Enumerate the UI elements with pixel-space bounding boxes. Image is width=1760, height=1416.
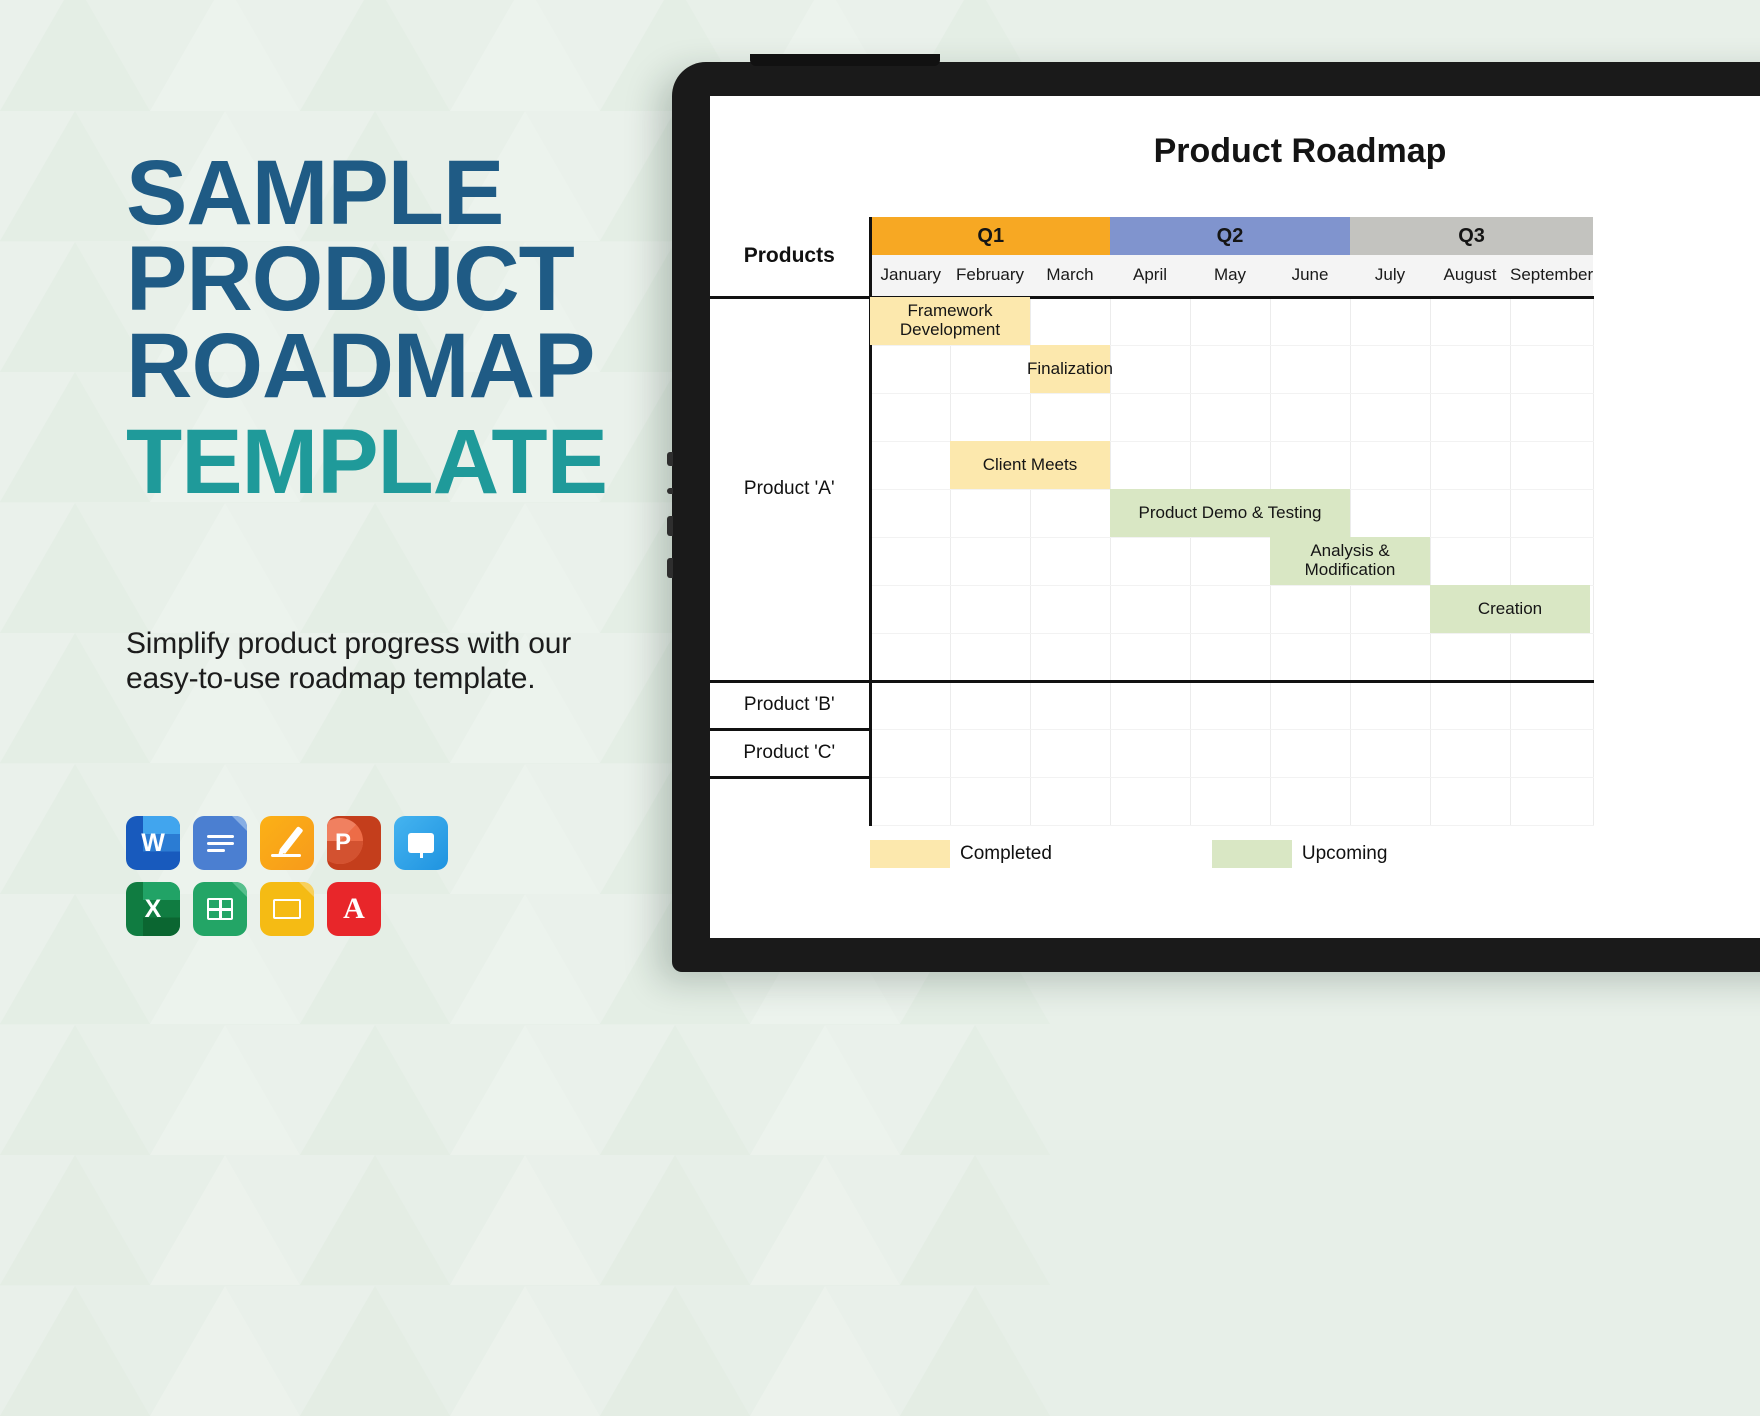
tablet-notch: [750, 54, 940, 66]
month-header-march: March: [1030, 255, 1110, 297]
pdf-letter: A: [343, 892, 365, 926]
product-a-label-spacer: [710, 297, 870, 345]
product-row-label-b: Product 'B': [710, 681, 870, 729]
table-row: [710, 393, 1593, 441]
legend-item-completed: Completed: [870, 840, 1052, 868]
keynote-stand: [420, 849, 423, 858]
products-header: Products: [710, 217, 870, 297]
table-row: Product 'A': [710, 441, 1593, 489]
headline-accent: TEMPLATE: [126, 419, 700, 505]
slide-fold-corner: [299, 882, 314, 897]
quarter-header-q3: Q3: [1350, 217, 1593, 255]
excel-letter: X: [145, 895, 162, 924]
subtitle-text: Simplify product progress with our easy-…: [126, 626, 626, 696]
table-row: [710, 345, 1593, 393]
headline-line-3: ROADMAP: [126, 323, 700, 409]
quarter-header-q1: Q1: [870, 217, 1110, 255]
table-row: [710, 633, 1593, 681]
legend-label-upcoming: Upcoming: [1302, 843, 1388, 865]
background-triangle: [975, 1286, 1125, 1416]
roadmap-title: Product Roadmap: [710, 132, 1760, 171]
quarter-header-row: Products Q1 Q2 Q3: [710, 217, 1593, 255]
legend-swatch-completed: [870, 840, 950, 868]
tablet-side-buttons[interactable]: [667, 452, 673, 600]
product-row-label-c: Product 'C': [710, 729, 870, 777]
headline-line-2: PRODUCT: [126, 236, 700, 322]
month-header-september: September: [1510, 255, 1593, 297]
background-triangle: [975, 1155, 1125, 1285]
tablet-device: Product Roadmap Products Q1 Q2 Q3: [672, 62, 1760, 972]
pen-underline: [271, 854, 301, 857]
format-icons-row-2: X A: [126, 882, 486, 936]
doc-lines: [207, 831, 234, 856]
slide-screen: [273, 899, 301, 919]
promo-panel: SAMPLE PRODUCT ROADMAP TEMPLATE Simplify…: [0, 0, 700, 1140]
legend: Completed Upcoming: [870, 840, 1387, 868]
quarter-header-q2: Q2: [1110, 217, 1350, 255]
page-title: SAMPLE PRODUCT ROADMAP TEMPLATE: [126, 150, 700, 506]
table-row: Product 'C': [710, 729, 1593, 777]
microsoft-powerpoint-icon[interactable]: P: [327, 816, 381, 870]
google-docs-icon[interactable]: [193, 816, 247, 870]
month-header-april: April: [1110, 255, 1190, 297]
doc-fold-corner: [232, 816, 247, 831]
table-row: [710, 537, 1593, 585]
microsoft-word-icon[interactable]: W: [126, 816, 180, 870]
background-triangle: [975, 1025, 1125, 1155]
format-icons-row-1: W P: [126, 816, 486, 870]
format-icons: W P X: [126, 816, 486, 936]
month-header-january: January: [870, 255, 950, 297]
sheet-grid: [207, 898, 233, 920]
apple-keynote-icon[interactable]: [394, 816, 448, 870]
month-header-july: July: [1350, 255, 1430, 297]
google-sheets-icon[interactable]: [193, 882, 247, 936]
ppt-letter: P: [335, 829, 351, 857]
legend-label-completed: Completed: [960, 843, 1052, 865]
tablet-screen: Product Roadmap Products Q1 Q2 Q3: [710, 96, 1760, 938]
microsoft-excel-icon[interactable]: X: [126, 882, 180, 936]
month-header-june: June: [1270, 255, 1350, 297]
pen-glyph: [280, 826, 304, 854]
table-row: [710, 777, 1593, 825]
month-header-august: August: [1430, 255, 1510, 297]
adobe-pdf-icon[interactable]: A: [327, 882, 381, 936]
apple-pages-icon[interactable]: [260, 816, 314, 870]
sheet-fold-corner: [232, 882, 247, 897]
legend-swatch-upcoming: [1212, 840, 1292, 868]
roadmap-table: Products Q1 Q2 Q3 January February March…: [710, 217, 1594, 826]
table-row: [710, 585, 1593, 633]
legend-item-upcoming: Upcoming: [1212, 840, 1388, 868]
headline-line-1: SAMPLE: [126, 150, 700, 236]
word-letter: W: [141, 829, 165, 858]
product-row-label-a: Product 'A': [710, 441, 870, 537]
month-header-february: February: [950, 255, 1030, 297]
table-row: Product 'B': [710, 681, 1593, 729]
month-header-may: May: [1190, 255, 1270, 297]
table-row: [710, 297, 1593, 345]
google-slides-icon[interactable]: [260, 882, 314, 936]
roadmap-sheet: Product Roadmap Products Q1 Q2 Q3: [710, 96, 1760, 826]
